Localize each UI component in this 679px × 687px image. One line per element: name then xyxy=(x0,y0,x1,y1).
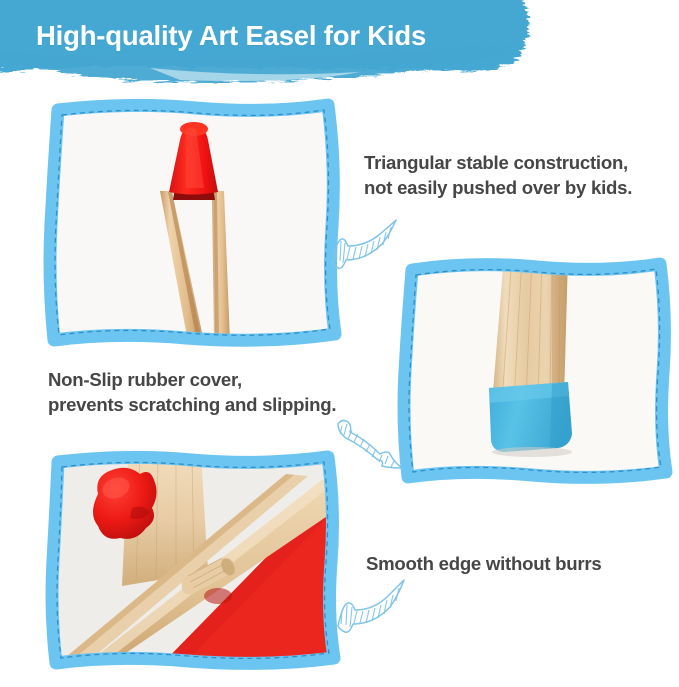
curved-arrow-up-right xyxy=(332,574,410,640)
photo-content xyxy=(36,450,348,672)
feature-caption-3: Smooth edge without burrs xyxy=(366,551,601,576)
photo-content xyxy=(36,96,346,351)
curved-arrow-down-right xyxy=(332,414,408,474)
infographic-root: High-quality Art Easel for Kids xyxy=(0,0,679,687)
caption-line: Non-Slip rubber cover, xyxy=(48,367,336,392)
caption-line: Smooth edge without burrs xyxy=(366,551,601,576)
caption-line: not easily pushed over by kids. xyxy=(364,175,632,200)
caption-line: prevents scratching and slipping. xyxy=(48,392,336,417)
header-banner: High-quality Art Easel for Kids xyxy=(0,0,679,96)
feature-caption-2: Non-Slip rubber cover, prevents scratchi… xyxy=(48,367,336,417)
photo-content xyxy=(392,256,677,486)
smooth-edge-corner-photo xyxy=(36,450,348,672)
feature-caption-1: Triangular stable construction, not easi… xyxy=(364,150,632,200)
curved-arrow-up-right xyxy=(326,216,402,274)
rubber-foot-cover-photo xyxy=(392,256,677,486)
caption-line: Triangular stable construction, xyxy=(364,150,632,175)
easel-tripod-legs-photo xyxy=(36,96,346,351)
page-title: High-quality Art Easel for Kids xyxy=(36,19,506,53)
